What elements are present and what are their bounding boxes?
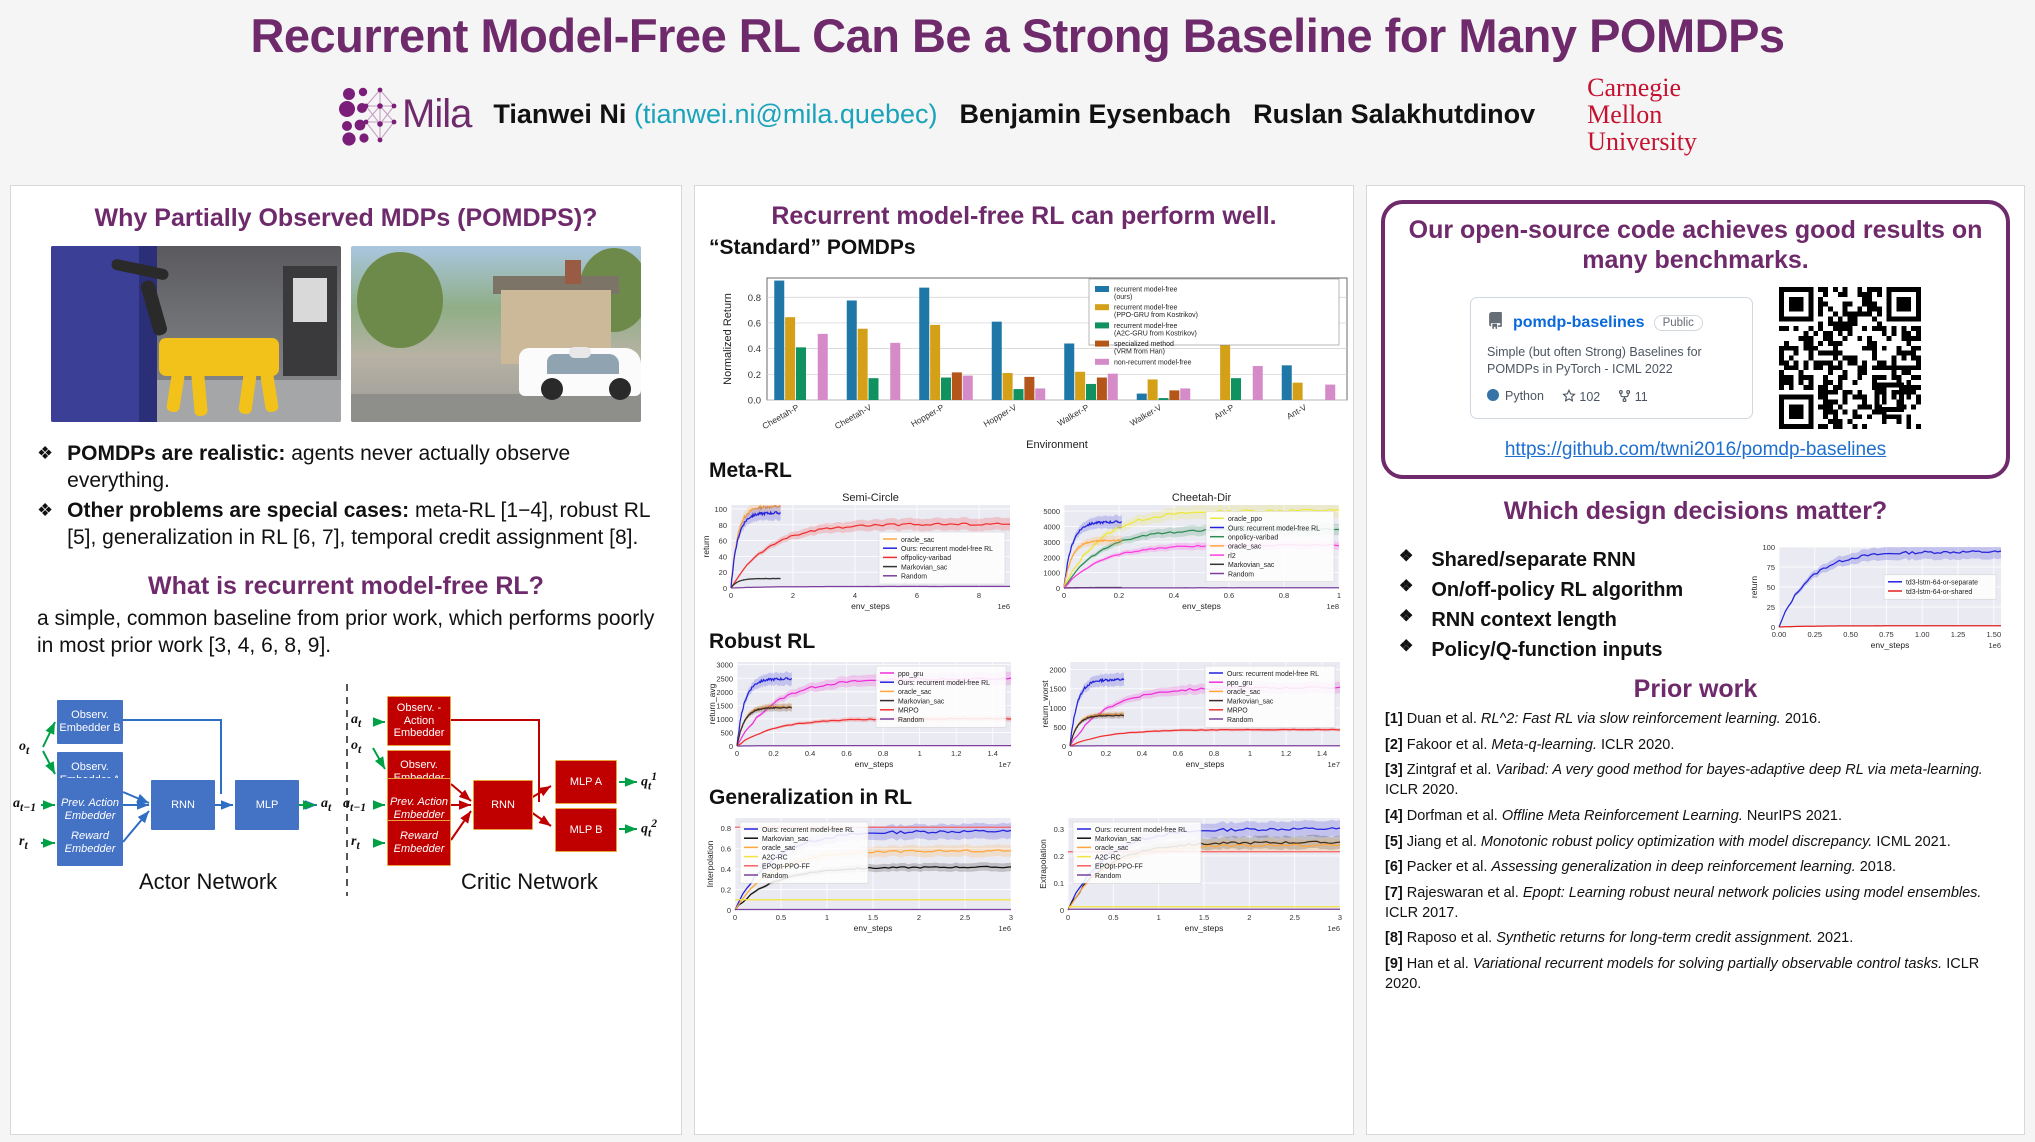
design-decisions-title: Which design decisions matter?	[1367, 497, 2024, 527]
svg-text:Walker-V: Walker-V	[1128, 401, 1163, 427]
qr-code[interactable]	[1779, 287, 1921, 429]
svg-text:onpolicy-varibad: onpolicy-varibad	[1228, 534, 1278, 541]
svg-text:1.5: 1.5	[1199, 913, 1209, 922]
svg-text:EPOpt-PPO-FF: EPOpt-PPO-FF	[1095, 863, 1143, 870]
critic-input-ot: ot	[351, 738, 361, 756]
bullet-1-bold: POMDPs are realistic:	[67, 442, 285, 465]
box-mlp-b: MLP B	[555, 808, 617, 852]
svg-text:Ours: recurrent model-free RL: Ours: recurrent model-free RL	[898, 680, 990, 687]
actor-network-title: Actor Network	[139, 869, 277, 895]
svg-text:(VRM from Han): (VRM from Han)	[1114, 348, 1165, 355]
svg-text:return: return	[701, 535, 711, 557]
svg-text:Ours: recurrent model-free RL: Ours: recurrent model-free RL	[901, 546, 993, 553]
svg-text:0.0: 0.0	[748, 395, 761, 406]
svg-text:0.6: 0.6	[841, 749, 851, 758]
svg-text:4000: 4000	[1043, 522, 1060, 531]
svg-text:1.00: 1.00	[1915, 630, 1930, 639]
svg-text:0.3: 0.3	[1054, 824, 1064, 833]
cmu-line-1: Carnegie	[1587, 74, 1697, 101]
svg-text:(ours): (ours)	[1114, 293, 1132, 300]
svg-text:50: 50	[1767, 583, 1775, 592]
cmu-line-2: Mellon	[1587, 101, 1697, 128]
svg-text:oracle_sac: oracle_sac	[762, 845, 796, 852]
svg-text:0.4: 0.4	[721, 865, 731, 874]
photo-robot	[51, 246, 341, 422]
list-item: ❖RNN context length	[1399, 605, 1739, 635]
svg-text:0: 0	[1066, 913, 1070, 922]
svg-text:0.8: 0.8	[1279, 591, 1289, 600]
svg-text:1e7: 1e7	[998, 760, 1011, 769]
star-icon	[1562, 390, 1579, 404]
svg-text:0: 0	[1056, 584, 1060, 593]
chart-interpolation: 00.20.40.60.800.511.522.53env_steps1e6In…	[695, 810, 1020, 950]
page-title: Recurrent Model-Free RL Can Be a Strong …	[0, 0, 2035, 62]
poster-header: Recurrent Model-Free RL Can Be a Strong …	[0, 0, 2035, 185]
svg-text:0.2: 0.2	[721, 885, 731, 894]
example-photos	[11, 246, 681, 422]
svg-text:Cheetah-P: Cheetah-P	[760, 401, 800, 430]
svg-text:2.5: 2.5	[960, 913, 970, 922]
list-item: ❖On/off-policy RL algorithm	[1399, 575, 1739, 605]
svg-text:env_steps: env_steps	[855, 759, 894, 769]
svg-text:Interpolation: Interpolation	[705, 840, 715, 887]
diamond-bullet-icon: ❖	[37, 440, 53, 495]
svg-text:0.2: 0.2	[748, 369, 761, 380]
svg-text:500: 500	[1053, 722, 1066, 731]
svg-text:0.2: 0.2	[768, 749, 778, 758]
svg-text:Random: Random	[1228, 571, 1254, 578]
svg-text:0.4: 0.4	[805, 749, 815, 758]
svg-text:0.4: 0.4	[748, 344, 761, 355]
open-source-box: Our open-source code achieves good resul…	[1381, 200, 2010, 479]
chart-design-rnn: 02550751000.000.250.500.751.001.251.50en…	[1739, 537, 2009, 662]
svg-text:1000: 1000	[1049, 703, 1066, 712]
svg-text:Random: Random	[901, 573, 927, 580]
svg-text:1e6: 1e6	[1988, 641, 2001, 650]
fork-icon	[1618, 390, 1634, 404]
svg-text:0.25: 0.25	[1808, 630, 1823, 639]
svg-text:0.1: 0.1	[1054, 878, 1064, 887]
list-item: ❖Shared/separate RNN	[1399, 545, 1739, 575]
svg-text:0.6: 0.6	[1173, 749, 1183, 758]
svg-text:env_steps: env_steps	[854, 923, 893, 933]
list-item: ❖ POMDPs are realistic: agents never act…	[37, 440, 655, 495]
svg-text:1.5: 1.5	[868, 913, 878, 922]
svg-text:0.4: 0.4	[1169, 591, 1179, 600]
svg-text:1.2: 1.2	[1281, 749, 1291, 758]
svg-text:40: 40	[719, 552, 727, 561]
svg-text:Ours: recurrent model-free RL: Ours: recurrent model-free RL	[762, 826, 854, 833]
svg-text:0.8: 0.8	[1209, 749, 1219, 758]
svg-text:1e8: 1e8	[1326, 602, 1339, 611]
diamond-bullet-icon: ❖	[1399, 635, 1413, 665]
svg-text:Random: Random	[1227, 716, 1253, 723]
svg-text:0.00: 0.00	[1772, 630, 1787, 639]
svg-text:oracle_ppo: oracle_ppo	[1228, 516, 1262, 523]
authors-row: Mila Tianwei Ni (tianwei.ni@mila.quebec)…	[0, 74, 2035, 156]
svg-text:0.6: 0.6	[748, 318, 761, 329]
chart-return-avg: 05001000150020002500300000.20.40.60.811.…	[695, 654, 1020, 784]
svg-text:recurrent model-free: recurrent model-free	[1114, 304, 1178, 311]
svg-text:0.2: 0.2	[1114, 591, 1124, 600]
box-observ-embedder-b: Observ. Embedder B	[57, 700, 123, 744]
critic-network-title: Critic Network	[461, 869, 598, 895]
svg-text:Hopper-V: Hopper-V	[982, 401, 1019, 428]
mila-dots-icon	[338, 84, 400, 146]
svg-text:0: 0	[1060, 906, 1064, 915]
svg-text:Markovian_sac: Markovian_sac	[762, 836, 809, 843]
svg-text:2: 2	[917, 913, 921, 922]
svg-text:Random: Random	[762, 872, 788, 879]
repo-language: Python	[1487, 389, 1544, 403]
actor-input-ot: ot	[19, 739, 29, 757]
svg-text:td3-lstm-64-or-separate: td3-lstm-64-or-separate	[1906, 580, 1978, 587]
box-critic-rnn: RNN	[473, 780, 533, 830]
mila-logo: Mila	[338, 84, 471, 146]
box-actor-rnn: RNN	[151, 780, 215, 830]
list-item: ❖ Other problems are special cases: meta…	[37, 497, 655, 552]
svg-text:env_steps: env_steps	[851, 601, 890, 611]
critic-output-q1: qt1	[641, 770, 657, 792]
svg-text:EPOpt-PPO-FF: EPOpt-PPO-FF	[762, 863, 810, 870]
svg-text:75: 75	[1767, 563, 1775, 572]
svg-text:oracle_sac: oracle_sac	[898, 689, 932, 696]
repo-forks[interactable]: 11	[1618, 389, 1647, 404]
charts-meta-rl: 02040608010002468env_steps1e6returnSemi-…	[695, 483, 1353, 628]
cmu-line-3: University	[1587, 128, 1697, 155]
code-title: Our open-source code achieves good resul…	[1399, 216, 1992, 275]
diamond-bullet-icon: ❖	[37, 497, 53, 552]
reference-item: [7] Rajeswaran et al. Epopt: Learning ro…	[1385, 884, 2006, 923]
github-repo-card[interactable]: pomdp-baselines Public Simple (but often…	[1470, 297, 1753, 419]
svg-text:2000: 2000	[1049, 665, 1066, 674]
svg-text:Cheetah-V: Cheetah-V	[833, 401, 873, 430]
author-3: Ruslan Salakhutdinov	[1253, 99, 1535, 130]
svg-text:5000: 5000	[1043, 507, 1060, 516]
svg-text:1: 1	[918, 749, 922, 758]
svg-text:Ours: recurrent model-free RL: Ours: recurrent model-free RL	[1227, 670, 1319, 677]
svg-text:0: 0	[733, 913, 737, 922]
svg-text:0: 0	[1068, 749, 1072, 758]
svg-text:env_steps: env_steps	[1182, 601, 1221, 611]
svg-text:0: 0	[729, 591, 733, 600]
reference-item: [9] Han et al. Variational recurrent mod…	[1385, 955, 2006, 994]
svg-text:td3-lstm-64-or-shared: td3-lstm-64-or-shared	[1906, 589, 1972, 596]
actor-input-at1: at−1	[13, 796, 36, 814]
left-bullets: ❖ POMDPs are realistic: agents never act…	[37, 440, 655, 552]
svg-text:Ours: recurrent model-free RL: Ours: recurrent model-free RL	[1095, 826, 1187, 833]
svg-text:Cheetah-Dir: Cheetah-Dir	[1172, 492, 1232, 504]
svg-text:specialized method: specialized method	[1114, 341, 1174, 348]
critic-input-rt: rt	[351, 834, 360, 852]
box-mlp-a: MLP A	[555, 760, 617, 804]
chart-return-worst: 050010001500200000.20.40.60.811.21.4env_…	[1024, 654, 1349, 784]
actor-output-at: at	[321, 796, 331, 814]
diamond-bullet-icon: ❖	[1399, 575, 1413, 605]
svg-text:0: 0	[727, 906, 731, 915]
chart-extrapolation: 00.10.20.300.511.522.53env_steps1e6Extra…	[1024, 810, 1349, 950]
svg-text:1000: 1000	[716, 714, 733, 723]
charts-generalization: 00.20.40.60.800.511.522.53env_steps1e6In…	[695, 810, 1353, 950]
prior-work-title: Prior work	[1367, 675, 2024, 705]
svg-text:MRPO: MRPO	[898, 707, 919, 714]
subhead-standard-pomdps: “Standard” POMDPs	[709, 236, 1353, 260]
repo-url-link[interactable]: https://github.com/twni2016/pomdp-baseli…	[1399, 439, 1992, 461]
box-reward-embedder: Reward Embedder	[57, 820, 123, 866]
repo-name[interactable]: pomdp-baselines	[1513, 314, 1645, 332]
actor-input-rt: rt	[19, 834, 28, 852]
svg-text:1.4: 1.4	[988, 749, 998, 758]
diamond-bullet-icon: ❖	[1399, 545, 1413, 575]
repo-icon	[1487, 312, 1504, 334]
svg-text:ppo_gru: ppo_gru	[1227, 680, 1252, 687]
svg-text:Ant-V: Ant-V	[1285, 401, 1309, 420]
svg-text:oracle_sac: oracle_sac	[901, 536, 935, 543]
svg-text:Ant-P: Ant-P	[1212, 401, 1236, 420]
svg-text:2.5: 2.5	[1289, 913, 1299, 922]
chart-standard-pomdps: 0.00.20.40.60.8Cheetah-PCheetah-VHopper-…	[695, 262, 1353, 457]
svg-text:1.25: 1.25	[1951, 630, 1966, 639]
repo-stars[interactable]: 102	[1562, 389, 1600, 404]
svg-text:3: 3	[1009, 913, 1013, 922]
author-1: Tianwei Ni (tianwei.ni@mila.quebec)	[493, 99, 937, 130]
svg-text:0: 0	[723, 584, 727, 593]
svg-text:1: 1	[1248, 749, 1252, 758]
bullet-2-bold: Other problems are special cases:	[67, 499, 409, 522]
reference-item: [5] Jiang et al. Monotonic robust policy…	[1385, 833, 2006, 853]
svg-text:oracle_sac: oracle_sac	[1228, 543, 1262, 550]
svg-text:return_worst: return_worst	[1040, 679, 1050, 727]
svg-text:non-recurrent model-free: non-recurrent model-free	[1114, 359, 1192, 366]
references-list: [1] Duan et al. RL^2: Fast RL via slow r…	[1367, 710, 2024, 995]
repo-description: Simple (but often Strong) Baselines for …	[1487, 344, 1736, 378]
svg-text:25: 25	[1767, 603, 1775, 612]
reference-item: [6] Packer et al. Assessing generalizati…	[1385, 858, 2006, 878]
svg-text:Hopper-P: Hopper-P	[909, 401, 946, 428]
svg-text:Normalized Return: Normalized Return	[722, 293, 734, 385]
reference-item: [3] Zintgraf et al. Varibad: A very good…	[1385, 761, 2006, 800]
svg-text:return: return	[1749, 576, 1759, 598]
svg-text:0.6: 0.6	[721, 844, 731, 853]
svg-text:2000: 2000	[716, 687, 733, 696]
svg-text:oracle_sac: oracle_sac	[1227, 689, 1261, 696]
box-observ-action-embedder: Observ. -Action Embedder	[387, 696, 451, 746]
chart-cheetah-dir: 01000200030004000500000.20.40.60.81env_s…	[1024, 483, 1349, 628]
svg-text:0: 0	[1062, 591, 1066, 600]
svg-text:0: 0	[729, 742, 733, 751]
panel-code-and-refs: Our open-source code achieves good resul…	[1366, 185, 2025, 1135]
svg-text:0.5: 0.5	[776, 913, 786, 922]
cmu-logo: Carnegie Mellon University	[1587, 74, 1697, 156]
svg-text:Environment: Environment	[1026, 439, 1088, 451]
svg-text:0.6: 0.6	[1224, 591, 1234, 600]
svg-text:1.2: 1.2	[951, 749, 961, 758]
svg-text:Markovian_sac: Markovian_sac	[1095, 836, 1142, 843]
svg-text:0: 0	[735, 749, 739, 758]
reference-item: [8] Raposo et al. Synthetic returns for …	[1385, 929, 2006, 949]
svg-text:3000: 3000	[716, 660, 733, 669]
svg-text:A2C-RC: A2C-RC	[762, 854, 788, 861]
svg-text:1e6: 1e6	[997, 602, 1010, 611]
svg-text:0.50: 0.50	[1843, 630, 1858, 639]
language-color-dot-icon	[1487, 389, 1499, 401]
panel-why-pomdps: Why Partially Observed MDPs (POMDPS)?	[10, 185, 682, 1135]
svg-text:3000: 3000	[1043, 537, 1060, 546]
what-is-recurrent-title: What is recurrent model-free RL?	[11, 572, 681, 602]
svg-text:env_steps: env_steps	[1186, 759, 1225, 769]
svg-text:8: 8	[977, 591, 981, 600]
subhead-meta-rl: Meta-RL	[709, 459, 1353, 483]
svg-text:2: 2	[1247, 913, 1251, 922]
middle-section-title: Recurrent model-free RL can perform well…	[695, 202, 1353, 232]
critic-input-at: at	[351, 712, 361, 730]
svg-text:Markovian_sac: Markovian_sac	[898, 698, 945, 705]
svg-text:80: 80	[719, 520, 727, 529]
svg-text:1e6: 1e6	[1327, 924, 1340, 933]
panel-results: Recurrent model-free RL can perform well…	[694, 185, 1354, 1135]
svg-text:1500: 1500	[716, 701, 733, 710]
svg-text:4: 4	[853, 591, 857, 600]
svg-text:2000: 2000	[1043, 553, 1060, 562]
svg-text:1.50: 1.50	[1987, 630, 2002, 639]
svg-text:env_steps: env_steps	[1871, 640, 1910, 650]
svg-text:Random: Random	[898, 716, 924, 723]
svg-text:rl2: rl2	[1228, 552, 1236, 559]
svg-text:MRPO: MRPO	[1227, 707, 1248, 714]
critic-output-q2: qt2	[641, 817, 657, 839]
design-bullets: ❖Shared/separate RNN ❖On/off-policy RL a…	[1399, 545, 1739, 665]
photo-self-driving-car	[351, 246, 641, 422]
svg-text:0.8: 0.8	[721, 824, 731, 833]
svg-text:A2C-RC: A2C-RC	[1095, 854, 1121, 861]
svg-text:recurrent model-free: recurrent model-free	[1114, 286, 1178, 293]
svg-text:oracle_sac: oracle_sac	[1095, 845, 1129, 852]
svg-text:2: 2	[791, 591, 795, 600]
svg-text:0.8: 0.8	[748, 292, 761, 303]
left-section-title: Why Partially Observed MDPs (POMDPS)?	[11, 204, 681, 234]
what-is-recurrent-text: a simple, common baseline from prior wor…	[37, 605, 655, 660]
svg-text:500: 500	[720, 728, 733, 737]
network-architecture-diagram: ot at−1 rt at Observ. Embedder B Observ.…	[11, 674, 681, 924]
subhead-generalization: Generalization in RL	[709, 786, 1353, 810]
mila-wordmark: Mila	[402, 92, 471, 137]
subhead-robust-rl: Robust RL	[709, 630, 1353, 654]
svg-text:6: 6	[915, 591, 919, 600]
svg-text:Random: Random	[1095, 872, 1121, 879]
box-critic-reward-embedder: Reward Embedder	[387, 820, 451, 866]
svg-text:env_steps: env_steps	[1185, 923, 1224, 933]
svg-text:0.2: 0.2	[1101, 749, 1111, 758]
svg-text:3: 3	[1338, 913, 1342, 922]
svg-text:1: 1	[1337, 591, 1341, 600]
svg-text:20: 20	[719, 568, 727, 577]
svg-text:100: 100	[714, 504, 727, 513]
reference-item: [2] Fakoor et al. Meta-q-learning. ICLR …	[1385, 736, 2006, 756]
author-1-name: Tianwei Ni	[493, 99, 626, 129]
svg-text:1500: 1500	[1049, 684, 1066, 693]
svg-text:0.8: 0.8	[878, 749, 888, 758]
svg-text:(A2C-GRU from Kostrikov): (A2C-GRU from Kostrikov)	[1114, 330, 1197, 337]
repo-visibility-badge: Public	[1654, 315, 1703, 331]
svg-text:0.5: 0.5	[1108, 913, 1118, 922]
chart-semi-circle: 02040608010002468env_steps1e6returnSemi-…	[695, 483, 1020, 628]
svg-text:0.75: 0.75	[1879, 630, 1894, 639]
box-actor-mlp: MLP	[235, 780, 299, 830]
svg-text:Semi-Circle: Semi-Circle	[842, 492, 899, 504]
svg-text:0.4: 0.4	[1137, 749, 1147, 758]
svg-text:Markovian_sac: Markovian_sac	[901, 564, 948, 571]
svg-text:Ours: recurrent model-free RL: Ours: recurrent model-free RL	[1228, 525, 1320, 532]
svg-text:0.2: 0.2	[1054, 851, 1064, 860]
svg-text:Markovian_sac: Markovian_sac	[1228, 562, 1275, 569]
poster-columns: Why Partially Observed MDPs (POMDPS)?	[0, 185, 2035, 1135]
author-2: Benjamin Eysenbach	[960, 99, 1232, 130]
svg-text:Extrapolation: Extrapolation	[1038, 838, 1048, 888]
svg-text:1e6: 1e6	[998, 924, 1011, 933]
svg-text:1000: 1000	[1043, 568, 1060, 577]
svg-text:(PPO-GRU from Kostrikov): (PPO-GRU from Kostrikov)	[1114, 312, 1198, 319]
svg-text:1.4: 1.4	[1317, 749, 1327, 758]
svg-text:return_avg: return_avg	[707, 683, 717, 724]
svg-text:0: 0	[1062, 742, 1066, 751]
list-item: ❖Policy/Q-function inputs	[1399, 635, 1739, 665]
author-1-email: (tianwei.ni@mila.quebec)	[634, 99, 938, 129]
svg-text:Walker-P: Walker-P	[1056, 401, 1091, 427]
svg-text:60: 60	[719, 536, 727, 545]
svg-text:offpolicy-varibad: offpolicy-varibad	[901, 555, 951, 562]
svg-text:recurrent model-free: recurrent model-free	[1114, 322, 1178, 329]
svg-text:2500: 2500	[716, 674, 733, 683]
svg-text:1: 1	[825, 913, 829, 922]
critic-input-at1: at−1	[343, 796, 366, 814]
reference-item: [4] Dorfman et al. Offline Meta Reinforc…	[1385, 807, 2006, 827]
diamond-bullet-icon: ❖	[1399, 605, 1413, 635]
svg-text:1: 1	[1157, 913, 1161, 922]
svg-text:1e7: 1e7	[1327, 760, 1340, 769]
charts-robust-rl: 05001000150020002500300000.20.40.60.811.…	[695, 654, 1353, 784]
svg-text:100: 100	[1762, 543, 1775, 552]
svg-text:Markovian_sac: Markovian_sac	[1227, 698, 1274, 705]
poster-root: Recurrent Model-Free RL Can Be a Strong …	[0, 0, 2035, 1142]
reference-item: [1] Duan et al. RL^2: Fast RL via slow r…	[1385, 710, 2006, 730]
svg-text:ppo_gru: ppo_gru	[898, 670, 923, 677]
